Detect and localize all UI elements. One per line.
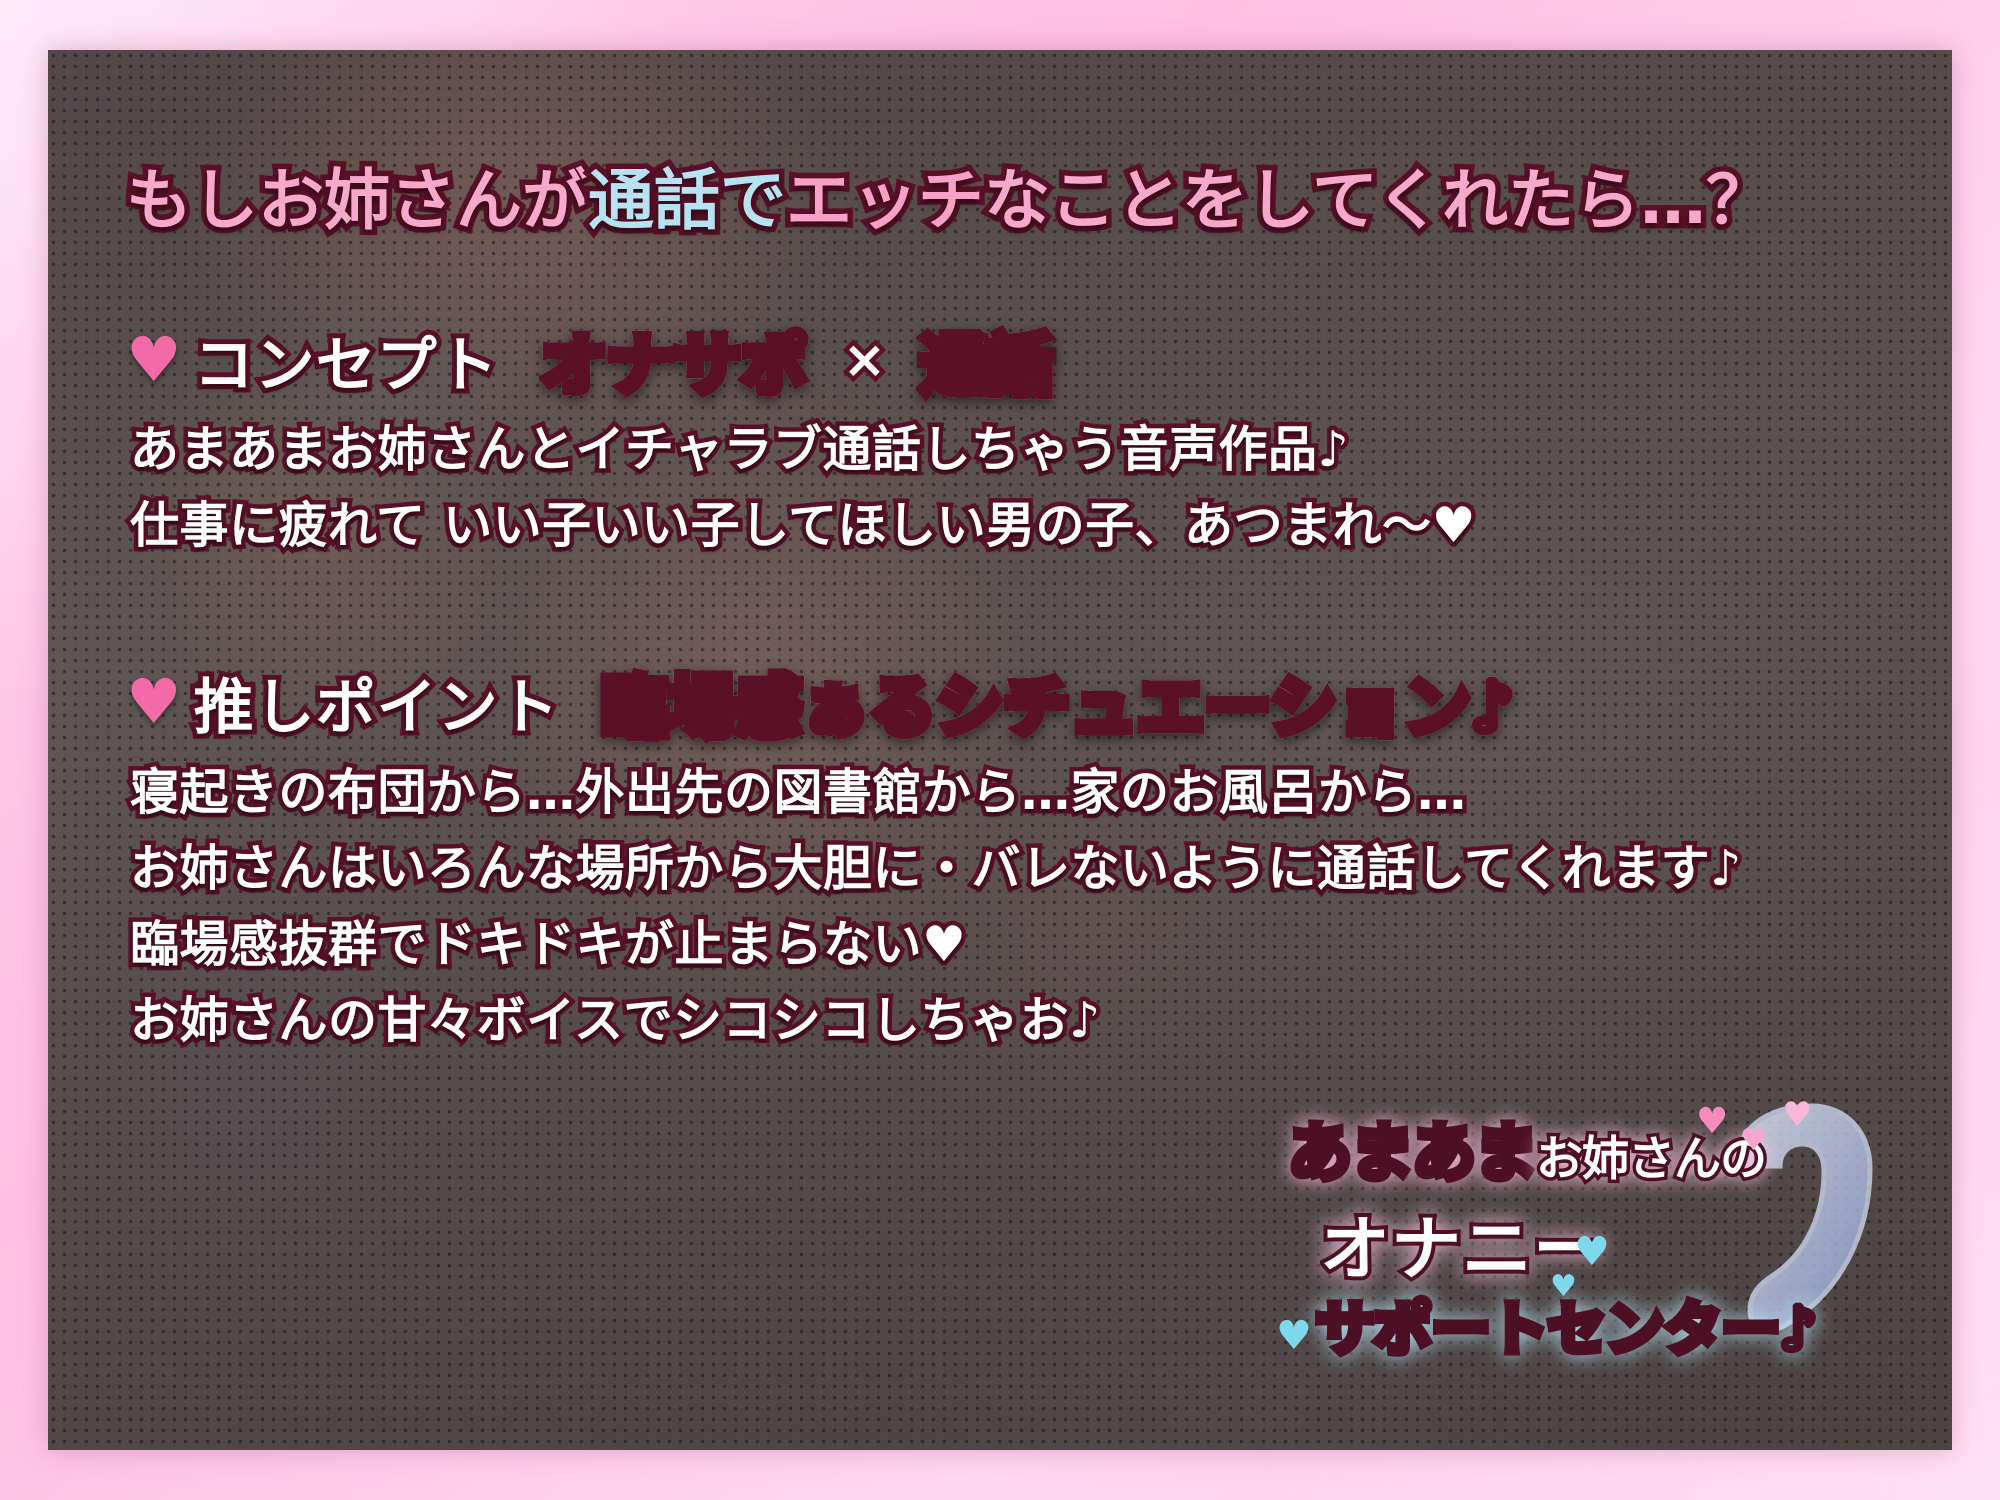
page-title: もしお姉さんが通話でエッチなことをしてくれたら…？ xyxy=(126,168,1772,234)
title-segment-4: エッチ xyxy=(786,162,984,239)
logo-text-oneesan: お姉さんの xyxy=(1536,1132,1766,1187)
point-line-1: 寝起きの布団から…外出先の図書館から…家のお風呂から… xyxy=(130,768,1742,817)
concept-label: コンセプト xyxy=(194,317,499,404)
heart-icon: ♥ xyxy=(1782,1098,1812,1132)
heart-icon: ♥ xyxy=(126,329,182,391)
title-segment-2: 通話 xyxy=(588,162,720,239)
heart-icon: ♥ xyxy=(1574,1232,1610,1272)
point-line-4: お姉さんの甘々ボイスでシコシコしちゃお♪ xyxy=(130,996,1742,1045)
content-layer: もしお姉さんが通話でエッチなことをしてくれたら…？ ♥ コンセプト オナサポ ×… xyxy=(48,50,1952,1450)
title-segment-1: もしお姉さんが xyxy=(126,162,588,239)
point-value: 臨場感ぁるシチュエーション♪ xyxy=(602,654,1515,750)
logo-row-3: サポートセンター♪ xyxy=(1316,1300,1817,1358)
poster-root: もしお姉さんが通話でエッチなことをしてくれたら…？ ♥ コンセプト オナサポ ×… xyxy=(0,0,2000,1500)
multiply-icon: × xyxy=(843,330,887,390)
point-heading-row: ♥ 推しポイント 臨場感ぁるシチュエーション♪ xyxy=(126,654,1514,750)
heart-icon: ♥ xyxy=(1550,1272,1577,1302)
concept-line-2: 仕事に疲れて いい子いい子してほしい男の子、あつまれ〜♥ xyxy=(130,501,1476,550)
logo-row-1: あまあまお姉さんの xyxy=(1288,1122,1766,1186)
heart-icon: ♥ xyxy=(126,671,182,733)
concept-description: あまあまお姉さんとイチャラブ通話しちゃう音声作品♪ 仕事に疲れて いい子いい子し… xyxy=(130,425,1476,550)
heart-icon: ♥ xyxy=(1696,1104,1728,1140)
brand-logo: あまあまお姉さんの オナニー サポートセンター♪ ♥ ♥ ♥ ♥ ♥ ♥ xyxy=(1282,1104,1902,1404)
heart-icon: ♥ xyxy=(1740,1126,1767,1156)
point-line-2: お姉さんはいろんな場所から大胆に・バレないように通話してくれます♪ xyxy=(130,844,1742,893)
concept-value-left: オナサポ xyxy=(541,312,809,408)
point-label: 推しポイント xyxy=(194,659,560,746)
title-segment-5: なことをしてくれたら…？ xyxy=(984,162,1772,239)
concept-heading-row: ♥ コンセプト オナサポ × 通話 xyxy=(126,312,1054,408)
logo-text-support-center: サポートセンター♪ xyxy=(1316,1295,1817,1363)
heart-icon: ♥ xyxy=(1276,1316,1312,1356)
point-line-3: 臨場感抜群でドキドキが止まらない♥ xyxy=(130,920,1742,969)
concept-value-right: 通話 xyxy=(920,312,1054,408)
logo-text-amaama: あまあま xyxy=(1288,1117,1536,1191)
concept-line-1: あまあまお姉さんとイチャラブ通話しちゃう音声作品♪ xyxy=(130,425,1476,474)
content-panel: もしお姉さんが通話でエッチなことをしてくれたら…？ ♥ コンセプト オナサポ ×… xyxy=(48,50,1952,1450)
point-description: 寝起きの布団から…外出先の図書館から…家のお風呂から… お姉さんはいろんな場所か… xyxy=(130,768,1742,1045)
title-segment-3: で xyxy=(720,162,786,239)
